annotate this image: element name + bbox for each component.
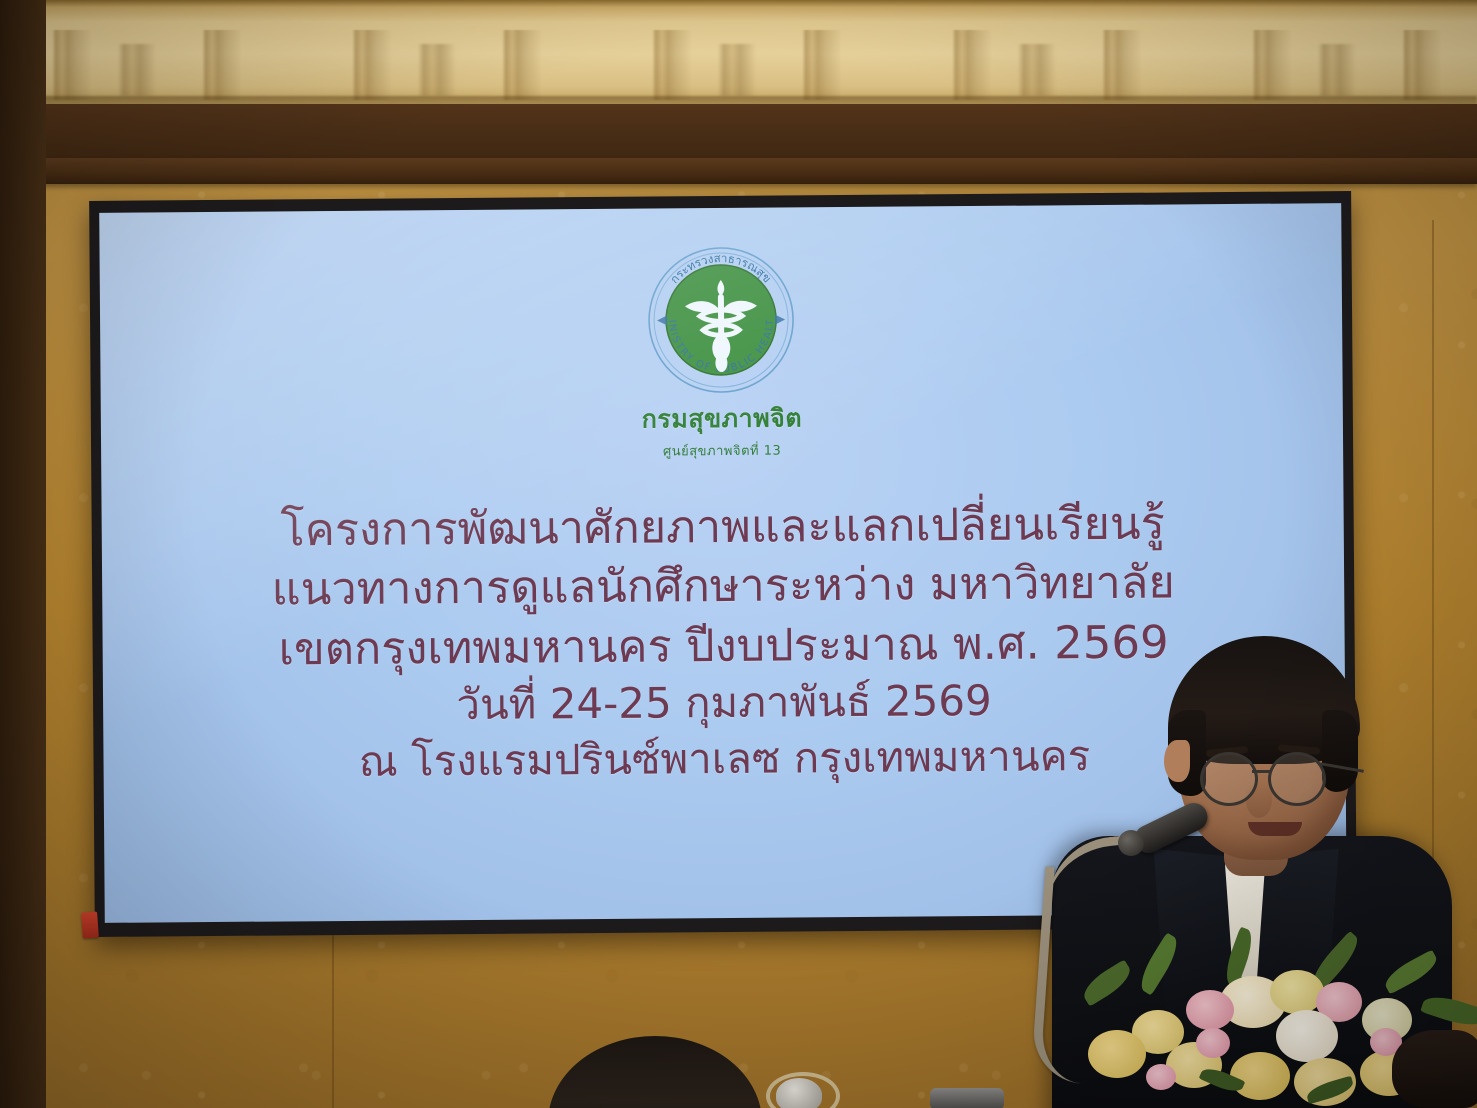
audience-member-partial <box>1392 1030 1477 1108</box>
dark-beam-lower <box>0 158 1477 184</box>
mouth <box>1248 822 1302 836</box>
eyeglass-lens-right <box>1268 752 1326 806</box>
photo-scene: กระทรวงสาธารณสุข MINISTRY OF PUBLIC HEAL… <box>0 0 1477 1108</box>
wall-column <box>0 0 46 1108</box>
eyeglasses <box>1172 750 1362 804</box>
ministry-of-public-health-seal-icon: กระทรวงสาธารณสุข MINISTRY OF PUBLIC HEAL… <box>644 243 797 396</box>
logo-block: กระทรวงสาธารณสุข MINISTRY OF PUBLIC HEAL… <box>640 243 802 461</box>
crown-molding <box>0 0 1477 120</box>
title-line-1: โครงการพัฒนาศักยภาพและแลกเปลี่ยนเรียนรู้ <box>101 492 1343 561</box>
speaker-at-podium <box>1010 600 1477 1108</box>
table-object-secondary <box>930 1088 1004 1108</box>
eyeglass-bridge <box>1252 770 1270 773</box>
table-object <box>776 1078 822 1108</box>
eyeglass-lens-left <box>1200 752 1258 806</box>
microphone-capsule <box>1118 830 1144 856</box>
screen-clip <box>81 911 99 938</box>
center-name: ศูนย์สุขภาพจิตที่ 13 <box>663 440 781 462</box>
eyeglass-temple <box>1320 762 1364 773</box>
dark-beam <box>0 104 1477 166</box>
molding-carving-detail <box>0 44 1477 96</box>
department-name: กรมสุขภาพจิต <box>642 398 803 439</box>
